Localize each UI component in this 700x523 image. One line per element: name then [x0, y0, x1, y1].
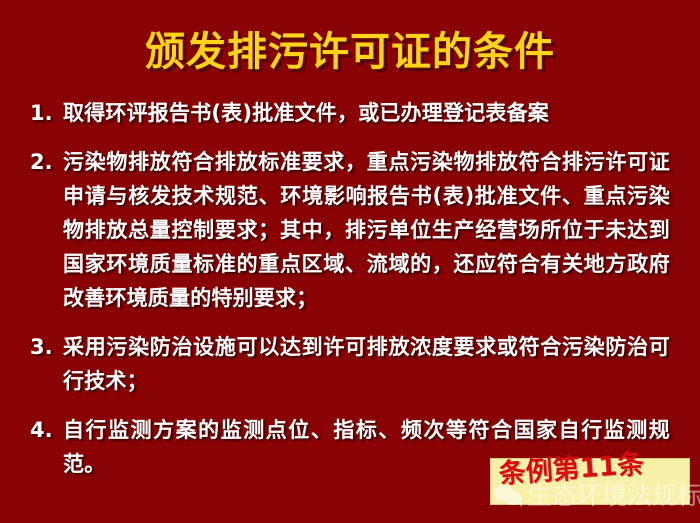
- list-item-text: 污染物排放符合排放标准要求，重点污染物排放符合排污许可证申请与核发技术规范、环境…: [63, 145, 670, 315]
- source-reference-badge: 条例第11条: [490, 458, 690, 505]
- list-item: 1. 取得环评报告书(表)批准文件，或已办理登记表备案: [30, 96, 670, 130]
- list-item-number: 4.: [30, 413, 63, 447]
- list-item: 2. 污染物排放符合排放标准要求，重点污染物排放符合排污许可证申请与核发技术规范…: [30, 145, 670, 315]
- page-title: 颁发排污许可证的条件: [145, 30, 555, 74]
- conditions-list: 1. 取得环评报告书(表)批准文件，或已办理登记表备案 2. 污染物排放符合排放…: [30, 96, 670, 481]
- list-item-number: 1.: [30, 96, 63, 130]
- title-container: 颁发排污许可证的条件: [0, 30, 700, 74]
- list-item: 3. 采用污染防治设施可以达到许可排放浓度要求或符合污染防治可行技术；: [30, 330, 670, 398]
- list-item-text: 采用污染防治设施可以达到许可排放浓度要求或符合污染防治可行技术；: [63, 330, 670, 398]
- list-item-text: 取得环评报告书(表)批准文件，或已办理登记表备案: [63, 96, 670, 130]
- slide-canvas: 颁发排污许可证的条件 1. 取得环评报告书(表)批准文件，或已办理登记表备案 2…: [0, 0, 700, 523]
- list-item-number: 3.: [30, 330, 63, 364]
- list-item-number: 2.: [30, 145, 63, 179]
